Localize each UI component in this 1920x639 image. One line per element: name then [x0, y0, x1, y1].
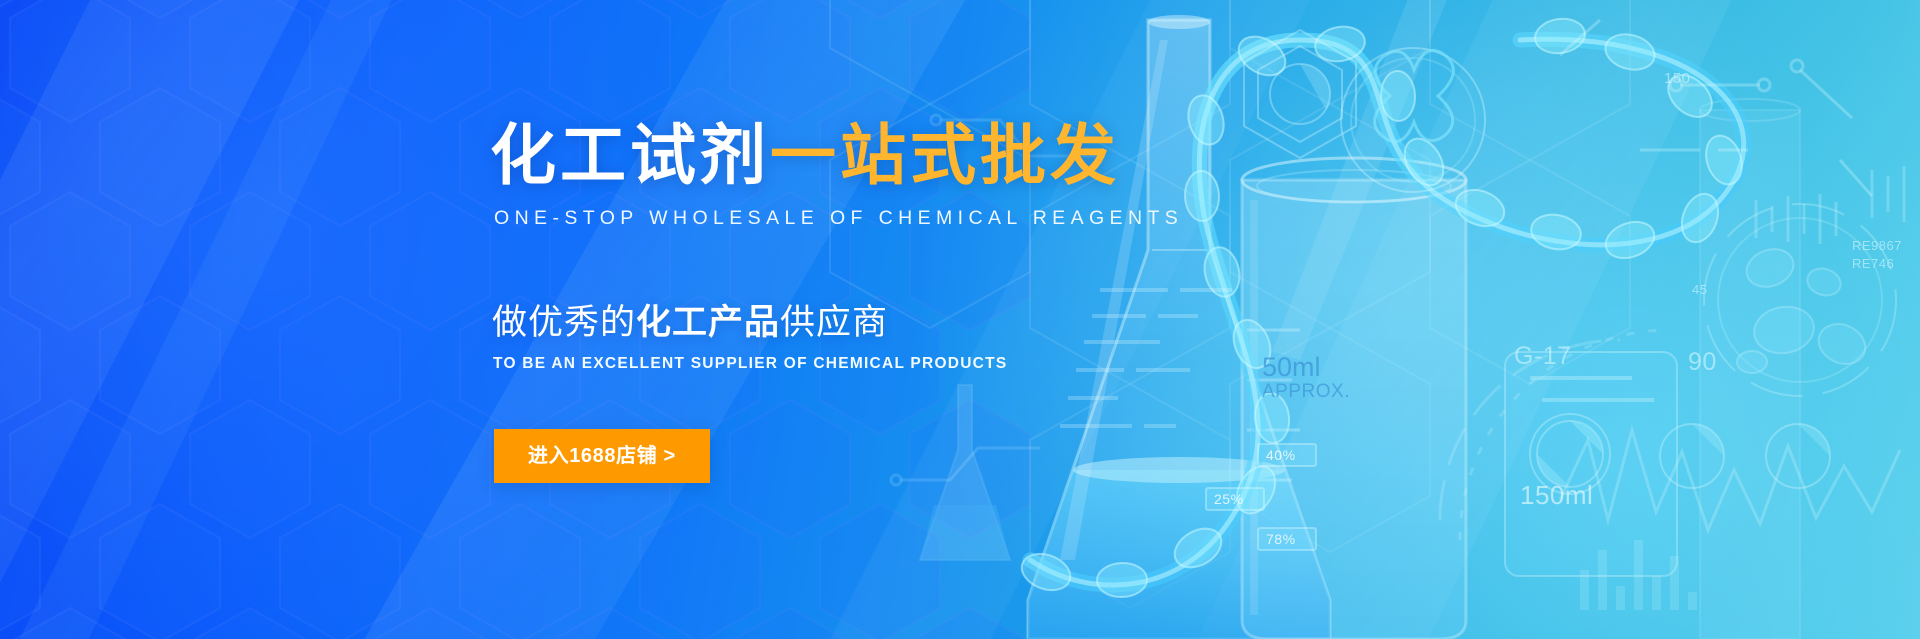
banner-content: 化工试剂一站式批发 ONE-STOP WHOLESALE OF CHEMICAL…	[490, 120, 1210, 483]
headline-main-text: 化工试剂	[490, 118, 770, 192]
tagline: 做优秀的化工产品供应商	[492, 302, 1210, 344]
enter-1688-shop-button[interactable]: 进入1688店铺 >	[494, 429, 710, 483]
hero-banner: 50ml APPROX. 150ml G-17 90 RE9867 RE746 …	[0, 0, 1920, 639]
tagline-english: TO BE AN EXCELLENT SUPPLIER OF CHEMICAL …	[493, 355, 1210, 373]
tagline-strong: 化工产品	[636, 303, 780, 342]
tagline-prefix: 做优秀的	[492, 303, 636, 342]
page-title: 化工试剂一站式批发	[490, 120, 1210, 191]
headline-subtitle-english: ONE-STOP WHOLESALE OF CHEMICAL REAGENTS	[494, 207, 1210, 230]
hud-hex-ring	[1244, 30, 1356, 158]
hud-cell-cluster	[1704, 204, 1896, 396]
hud-tick-ruler	[1756, 166, 1904, 244]
hud-molecule-badge	[1341, 48, 1485, 192]
hud-node-diagram	[1560, 20, 1872, 196]
headline-accent-text: 一站式批发	[770, 118, 1120, 192]
hud-percent-boxes	[1206, 444, 1316, 550]
tagline-suffix: 供应商	[780, 303, 888, 342]
